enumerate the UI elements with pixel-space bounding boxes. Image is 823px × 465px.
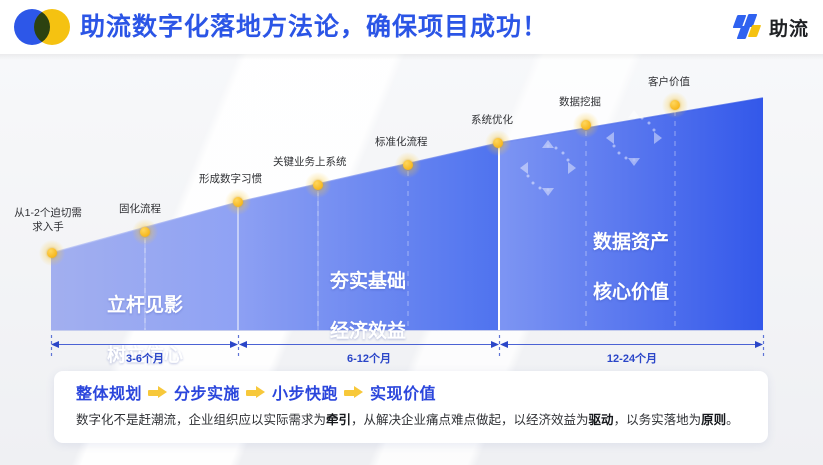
yellow-arrow-icon-2 xyxy=(246,386,266,398)
summary-card: 整体规划 分步实施 小步快跑 实现价值 数字化不是赶潮流，企业组织应以实际需求为… xyxy=(54,371,768,443)
axis-arrow-right-2 xyxy=(491,341,499,348)
brand-name: 助流 xyxy=(769,14,809,41)
axis-label-2: 6-12个月 xyxy=(319,350,419,366)
header-shadow xyxy=(0,54,823,60)
summary-keyword-5: 原则 xyxy=(701,413,726,427)
zhuliu-circles-logo-icon xyxy=(14,9,70,45)
step-label-2: 分步实施 xyxy=(174,380,240,404)
axis-arrow-left-3 xyxy=(500,341,508,348)
axis-arrow-left-1 xyxy=(51,341,59,348)
summary-keyword-1: 牵引 xyxy=(326,413,351,427)
yellow-arrow-icon-3 xyxy=(344,386,364,398)
axis-label-3: 12-24个月 xyxy=(582,350,682,366)
axis-label-1: 3-6个月 xyxy=(95,350,195,366)
summary-text-0: 数字化不是赶潮流，企业组织应以实际需求为 xyxy=(76,413,326,427)
summary-keyword-3: 驱动 xyxy=(589,413,614,427)
summary-text-2: ，从解决企业痛点难点做起，以经济效益为 xyxy=(351,413,589,427)
brand-right: 助流 xyxy=(734,11,809,43)
summary-steps: 整体规划 分步实施 小步快跑 实现价值 xyxy=(76,381,436,403)
axis-arrow-left-2 xyxy=(239,341,247,348)
axis-arrow-right-1 xyxy=(230,341,238,348)
logo-circle-yellow xyxy=(34,9,70,45)
axis-arrow-right-3 xyxy=(755,341,763,348)
slide-canvas: 助流数字化落地方法论，确保项目成功！ 助流 xyxy=(0,0,823,465)
step-label-4: 实现价值 xyxy=(370,380,436,404)
page-header: 助流数字化落地方法论，确保项目成功！ 助流 xyxy=(0,0,823,54)
zhuliu-bolt-icon xyxy=(734,14,764,40)
yellow-arrow-icon-1 xyxy=(148,386,168,398)
summary-text-6: 。 xyxy=(726,413,739,427)
summary-body-text: 数字化不是赶潮流，企业组织应以实际需求为牵引，从解决企业痛点难点做起，以经济效益… xyxy=(76,410,752,430)
summary-text-4: ，以务实落地为 xyxy=(614,413,702,427)
page-title: 助流数字化落地方法论，确保项目成功！ xyxy=(80,9,548,45)
step-label-1: 整体规划 xyxy=(76,380,142,404)
step-label-3: 小步快跑 xyxy=(272,380,338,404)
